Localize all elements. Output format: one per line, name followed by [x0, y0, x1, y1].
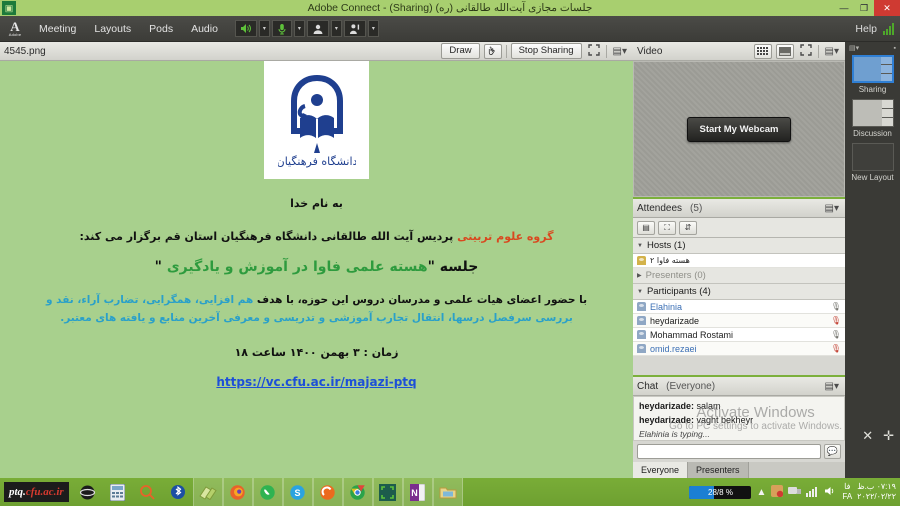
attendee-name: هسته فاوا ۲	[650, 256, 690, 265]
taskbar-firefox-icon[interactable]	[223, 478, 253, 506]
raise-hand-icon[interactable]	[344, 20, 366, 37]
close-button[interactable]: ✕	[874, 0, 900, 16]
system-tray: 28/8 % ▲ فا FA ۰۷:۱۹ ب.ظ ۲۰۲۲/۰۲/۲۲	[689, 482, 900, 502]
add-pod-icon[interactable]: ✛	[883, 428, 894, 444]
app-menubar: A Adobe Meeting Layouts Pods Audio ▾ ▾ ▾…	[0, 16, 900, 42]
attendees-group-hosts[interactable]: ▼ Hosts (1)	[633, 238, 845, 254]
avatar-icon	[637, 344, 646, 353]
microphone-icon[interactable]: 🎙	[831, 302, 841, 311]
chat-tab-everyone[interactable]: Everyone	[633, 462, 688, 478]
attendees-pod-header: Attendees (5) ▤▾	[633, 199, 845, 218]
slide-bismillah: به نام خدا	[0, 197, 633, 210]
layout-strip: ▤▾ ▪ Sharing Discussion New Layout	[845, 42, 900, 478]
taskbar-onenote-icon[interactable]: N	[403, 478, 433, 506]
window-title: جلسات مجازی آیت‌الله طالقانی (ره) (Shari…	[0, 0, 900, 16]
attendee-row-host[interactable]: هسته فاوا ۲	[633, 254, 845, 268]
slide-paragraph: با حضور اعضای هیات علمی و مدرسان دروس ای…	[44, 291, 589, 328]
webcam-dropdown-caret[interactable]: ▾	[331, 20, 342, 37]
microphone-icon[interactable]: 🎙	[831, 330, 841, 339]
attendees-pod: Attendees (5) ▤▾ ▤ ⛶ ⇵ ▼ Hosts (1)	[633, 197, 845, 375]
university-logo: دانشگاه فرهنگیان	[264, 61, 369, 179]
list-view-icon[interactable]: ▤	[637, 221, 655, 235]
avatar-icon	[637, 330, 646, 339]
attendee-row[interactable]: omid.rezaei 🎙	[633, 342, 845, 356]
attendees-pod-controls: ▤▾	[823, 203, 841, 214]
video-pod-controls: ▤▾	[754, 44, 841, 59]
video-pod-title: Video	[637, 46, 662, 57]
meeting-toolbar: ▾ ▾ ▾ ▾	[235, 20, 379, 37]
badge-prefix: ptq.	[9, 486, 26, 498]
chevron-down-icon: ▼	[637, 243, 643, 249]
pod-menu-icon[interactable]: ▤▾	[823, 381, 841, 392]
chevron-right-icon: ▶	[637, 272, 642, 279]
attendee-name: Mohammad Rostami	[650, 330, 733, 340]
layout-label: Discussion	[853, 129, 892, 138]
breakout-rooms-icon[interactable]: ⛶	[658, 221, 676, 235]
slide-session-prefix: جلسه "	[428, 259, 479, 275]
video-pod: Video ▤▾	[633, 42, 845, 197]
microphone-icon[interactable]	[272, 20, 292, 37]
host-avatar-icon	[637, 256, 646, 265]
attendee-row[interactable]: heydarizade 🎙	[633, 314, 845, 328]
attendees-group-presenters[interactable]: ▶ Presenters (0)	[633, 268, 845, 284]
adobe-connect-window: ▣ جلسات مجازی آیت‌الله طالقانی (ره) (Sha…	[0, 0, 900, 506]
shared-slide: دانشگاه فرهنگیان به نام خدا گروه علوم تر…	[0, 61, 633, 478]
layout-thumb	[852, 143, 894, 171]
floating-controls: ✕ ✛	[862, 428, 894, 444]
taskbar-skype-icon[interactable]: S	[283, 478, 313, 506]
attendee-status: 🎙	[831, 316, 841, 325]
clock-time: ۰۷:۱۹ ب.ظ	[857, 482, 896, 492]
chat-pod-header: Chat (Everyone) ▤▾	[633, 377, 845, 396]
attendee-name: heydarizade	[650, 316, 699, 326]
fullscreen-icon[interactable]	[798, 44, 814, 59]
layout-thumb-side	[882, 100, 893, 126]
slide-paragraph-part1: با حضور اعضای هیات علمی و مدرسان دروس ای…	[253, 294, 587, 306]
webcam-icon[interactable]	[307, 20, 329, 37]
layout-label: Sharing	[859, 85, 887, 94]
clock-date: ۲۰۲۲/۰۲/۲۲	[857, 492, 896, 502]
slide-meeting-url[interactable]: https://vc.cfu.ac.ir/majazi-ptq	[0, 375, 633, 389]
battery-indicator[interactable]: 28/8 %	[689, 486, 751, 499]
window-titlebar: ▣ جلسات مجازی آیت‌الله طالقانی (ره) (Sha…	[0, 0, 900, 16]
attendee-row[interactable]: Mohammad Rostami 🎙	[633, 328, 845, 342]
chat-text: salam	[694, 401, 721, 411]
menu-item-layouts[interactable]: Layouts	[85, 19, 140, 39]
attendee-status: 🎙	[831, 344, 841, 353]
adobe-logo-letter: A	[10, 21, 19, 32]
chat-input-row: 💬	[633, 441, 845, 462]
avatar-icon	[637, 316, 646, 325]
chat-sender: heydarizade:	[639, 401, 694, 411]
avatar-icon	[637, 302, 646, 311]
badge-suffix: cfu.ac.ir	[26, 486, 64, 498]
slide-group-line: گروه علوم تربیتی پردیس آیت الله طالقانی …	[0, 230, 633, 243]
pod-menu-icon[interactable]: ▤▾	[823, 46, 841, 57]
farhangian-logo-svg: دانشگاه فرهنگیان	[278, 70, 356, 170]
chevron-down-icon: ▼	[637, 289, 643, 295]
attendees-count: (5)	[690, 203, 702, 214]
layout-thumb-side	[881, 57, 892, 81]
windows-taskbar: ptq.cfu.ac.ir S	[0, 478, 900, 506]
stop-sharing-button[interactable]: Stop Sharing	[511, 43, 582, 59]
meeting-body: 4545.png Draw Stop Sharing ▤▾	[0, 42, 900, 478]
chat-tabs: Everyone Presenters	[633, 462, 845, 478]
slide-group-highlight: گروه علوم تربیتی	[457, 230, 553, 243]
taskbar-calculator-icon[interactable]	[103, 478, 133, 506]
toolbar-divider	[506, 45, 507, 58]
raise-hand-dropdown-caret[interactable]: ▾	[368, 20, 379, 37]
pod-menu-icon[interactable]: ▤▾	[611, 46, 629, 57]
close-icon[interactable]: ✕	[862, 428, 873, 444]
pointer-hand-icon[interactable]	[484, 44, 502, 59]
layout-thumb	[852, 55, 894, 83]
presenters-group-label: Presenters (0)	[646, 270, 706, 281]
antivirus-tray-icon[interactable]	[771, 485, 783, 500]
taskbar-folder-icon[interactable]	[433, 478, 463, 506]
clock[interactable]: ۰۷:۱۹ ب.ظ ۲۰۲۲/۰۲/۲۲	[857, 482, 896, 502]
slide-time-line: زمان : ۳ بهمن ۱۴۰۰ ساعت ۱۸	[0, 346, 633, 359]
attendee-name: omid.rezaei	[650, 344, 697, 354]
attendee-name: Elahinia	[650, 302, 682, 312]
video-stage: Start My Webcam	[633, 61, 845, 197]
show-hidden-icons-icon[interactable]: ▲	[756, 487, 766, 498]
shared-file-name: 4545.png	[4, 46, 46, 57]
taskbar-notes-icon[interactable]	[193, 478, 223, 506]
fullscreen-icon[interactable]	[586, 44, 602, 59]
volume-tray-icon[interactable]	[824, 485, 837, 500]
chat-scope: (Everyone)	[666, 381, 715, 392]
grid-view-icon[interactable]	[754, 44, 772, 59]
menu-item-pods[interactable]: Pods	[140, 19, 182, 39]
svg-text:S: S	[295, 488, 301, 498]
connection-status-icon	[883, 23, 894, 35]
chat-pod: Chat (Everyone) ▤▾ heydarizade: salam he…	[633, 375, 845, 478]
chat-message: heydarizade: salam	[639, 401, 839, 411]
language-indicator[interactable]: فا FA	[842, 482, 852, 502]
adobe-logo-icon: A Adobe	[0, 16, 30, 42]
chat-message-list: heydarizade: salam heydarizade: vaght be…	[633, 396, 845, 441]
microphone-muted-icon[interactable]: 🎙	[831, 344, 841, 353]
svg-text:N: N	[411, 488, 418, 498]
language-top: فا	[842, 482, 852, 492]
restore-button[interactable]: ❐	[854, 0, 874, 16]
collapse-icon[interactable]: ▪	[894, 45, 896, 52]
menu-item-meeting[interactable]: Meeting	[30, 19, 85, 39]
chat-pod-title: Chat	[637, 381, 658, 392]
hosts-group-label: Hosts (1)	[647, 240, 686, 251]
chat-sender: heydarizade:	[639, 415, 694, 425]
signal-tray-icon[interactable]	[806, 485, 819, 500]
slide-session-line: جلسه "هسته علمی فاوا در آموزش و یادگیری …	[0, 259, 633, 275]
chat-input[interactable]	[637, 444, 821, 459]
taskbar-whatsapp-icon[interactable]	[253, 478, 283, 506]
layout-strip-header: ▤▾ ▪	[845, 44, 900, 55]
slide-group-rest: پردیس آیت الله طالقانی دانشگاه فرهنگیان …	[79, 230, 457, 243]
minimize-button[interactable]: —	[834, 0, 854, 16]
taskbar-adobe-connect-icon[interactable]	[373, 478, 403, 506]
attendees-pod-title: Attendees	[637, 203, 682, 214]
attendees-group-participants[interactable]: ▼ Participants (4)	[633, 284, 845, 300]
help-button[interactable]: Help	[855, 23, 877, 35]
taskbar-search-icon[interactable]	[133, 478, 163, 506]
taskbar-internet-explorer-icon[interactable]	[73, 478, 103, 506]
attendee-row[interactable]: Elahinia 🎙	[633, 300, 845, 314]
adobe-logo-text: Adobe	[9, 32, 22, 37]
battery-text: 28/8 %	[689, 488, 751, 497]
layout-item-new-layout[interactable]: New Layout	[851, 143, 893, 182]
speaker-icon[interactable]	[235, 20, 257, 37]
layout-item-discussion[interactable]: Discussion	[852, 99, 894, 138]
chat-text: vaght bekheyr	[694, 415, 753, 425]
speaker-dropdown-caret[interactable]: ▾	[259, 20, 270, 37]
microphone-dropdown-caret[interactable]: ▾	[294, 20, 305, 37]
attendee-status: 🎙	[831, 330, 841, 339]
help-area: Help	[855, 23, 900, 35]
chat-tab-presenters[interactable]: Presenters	[688, 462, 749, 478]
network-tray-icon[interactable]	[788, 485, 801, 500]
filmstrip-view-icon[interactable]	[776, 44, 794, 59]
video-toolbar-divider	[818, 45, 819, 58]
taskbar-eset-icon[interactable]	[313, 478, 343, 506]
slide-session-suffix: "	[155, 259, 167, 275]
share-pod-controls: Draw Stop Sharing ▤▾	[441, 43, 629, 59]
layout-label: New Layout	[851, 173, 893, 182]
taskbar-chrome-icon[interactable]	[343, 478, 373, 506]
chat-pod-controls: ▤▾	[823, 381, 841, 392]
share-pod-header: 4545.png Draw Stop Sharing ▤▾	[0, 42, 633, 61]
chat-bubble-icon[interactable]: 💬	[824, 444, 841, 459]
right-pod-column: Video ▤▾	[633, 42, 845, 478]
video-pod-header: Video ▤▾	[633, 42, 845, 61]
attendee-status: 🎙	[831, 302, 841, 311]
layout-thumb-main	[853, 100, 882, 126]
draw-button[interactable]: Draw	[441, 43, 479, 59]
chat-typing-indicator: Elahinia is typing...	[639, 429, 839, 439]
layout-thumb	[852, 99, 894, 127]
layout-thumb-main	[854, 57, 881, 81]
window-controls: — ❐ ✕	[834, 0, 900, 16]
language-bottom: FA	[842, 492, 852, 502]
attendees-toolbar: ▤ ⛶ ⇵	[633, 218, 845, 238]
attendee-options-icon[interactable]: ⇵	[679, 221, 697, 235]
toolbar-divider-2	[606, 45, 607, 58]
slide-text-block: به نام خدا گروه علوم تربیتی پردیس آیت ال…	[0, 197, 633, 389]
slide-session-highlight: هسته علمی فاوا در آموزش و یادگیری	[167, 259, 428, 275]
chat-message: heydarizade: vaght bekheyr	[639, 415, 839, 425]
start-my-webcam-button[interactable]: Start My Webcam	[687, 117, 790, 142]
taskbar-site-badge: ptq.cfu.ac.ir	[4, 482, 69, 502]
participants-group-label: Participants (4)	[647, 286, 711, 297]
taskbar-bluetooth-icon[interactable]	[163, 478, 193, 506]
svg-text:دانشگاه فرهنگیان: دانشگاه فرهنگیان	[278, 155, 356, 168]
pod-menu-icon[interactable]: ▤▾	[823, 203, 841, 214]
share-pod: 4545.png Draw Stop Sharing ▤▾	[0, 42, 633, 478]
microphone-muted-icon[interactable]: 🎙	[831, 316, 841, 325]
layout-menu-icon[interactable]: ▤▾	[849, 44, 859, 52]
layout-item-sharing[interactable]: Sharing	[852, 55, 894, 94]
menu-item-audio[interactable]: Audio	[182, 19, 227, 39]
